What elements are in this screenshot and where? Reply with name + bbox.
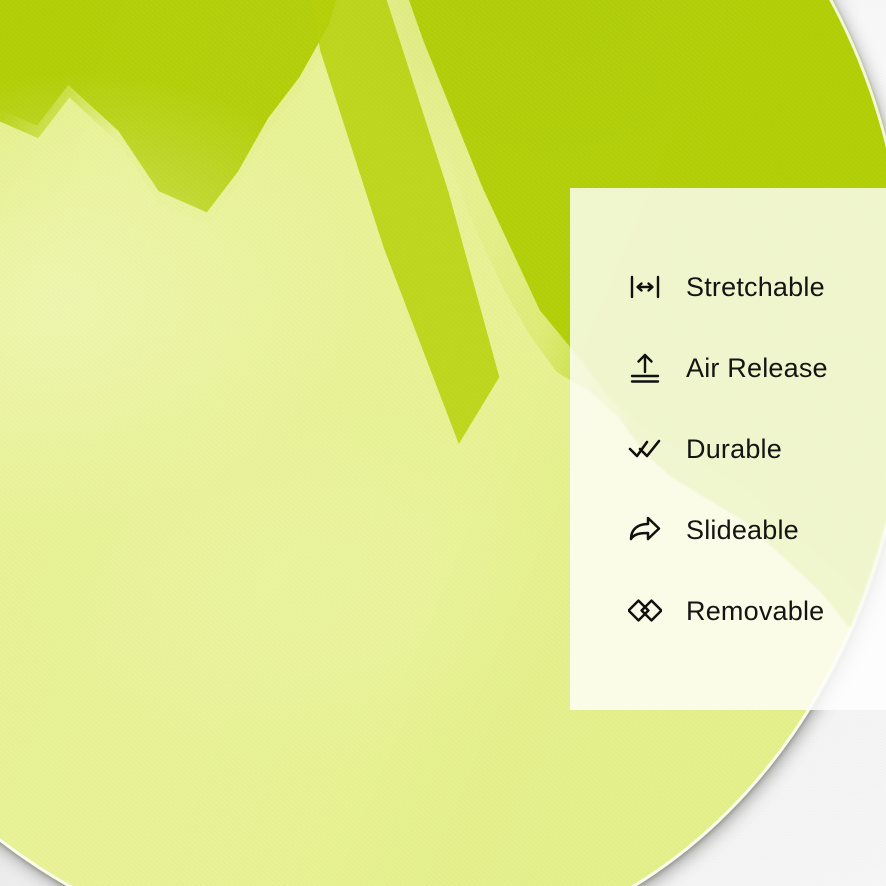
- feature-item-air-release: Air Release: [628, 347, 886, 389]
- overlapping-diamonds-icon: [628, 591, 668, 631]
- feature-label: Air Release: [686, 355, 828, 382]
- double-check-icon: [628, 429, 668, 469]
- feature-list: Stretchable Air Release: [570, 266, 886, 632]
- feature-label: Removable: [686, 598, 824, 625]
- feature-item-removable: Removable: [628, 590, 886, 632]
- feature-label: Stretchable: [686, 274, 825, 301]
- feature-panel: Stretchable Air Release: [570, 188, 886, 710]
- air-release-icon: [628, 348, 668, 388]
- feature-item-slideable: Slideable: [628, 509, 886, 551]
- curved-arrow-right-icon: [628, 510, 668, 550]
- feature-label: Slideable: [686, 517, 799, 544]
- stretch-horizontal-icon: [628, 267, 668, 307]
- feature-label: Durable: [686, 436, 782, 463]
- product-image-canvas: Stretchable Air Release: [0, 0, 886, 886]
- feature-item-durable: Durable: [628, 428, 886, 470]
- feature-item-stretchable: Stretchable: [628, 266, 886, 308]
